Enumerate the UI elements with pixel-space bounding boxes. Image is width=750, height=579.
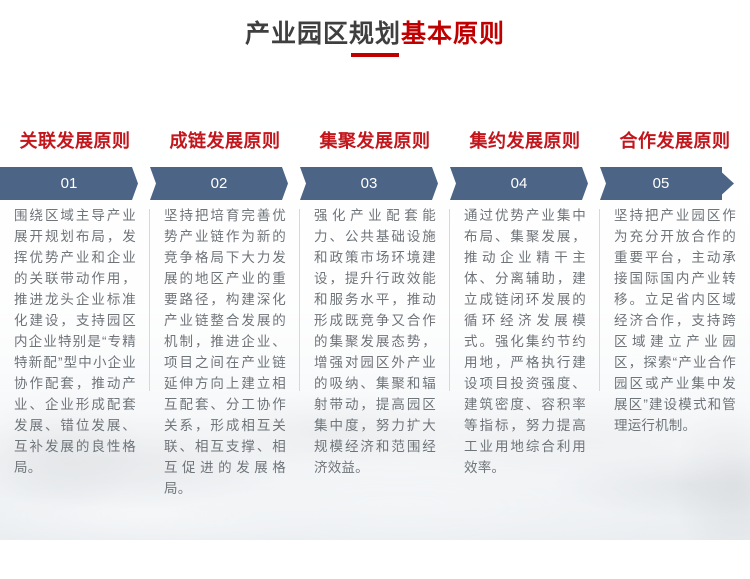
page-title-primary: 产业园区规划	[245, 20, 401, 48]
step-segment-1[interactable]: 01	[0, 167, 156, 200]
step-number-4: 04	[511, 175, 528, 192]
principle-columns: 围绕区域主导产业展开规划布局，发挥优势产业和企业的关联带动作用，推进龙头企业标准…	[0, 205, 750, 505]
page-title: 产业园区规划基本原则	[0, 14, 750, 50]
content-panel: 关联发展原则 成链发展原则 集聚发展原则 集约发展原则 合作发展原则 01 02…	[0, 105, 750, 540]
principle-header-2: 成链发展原则	[150, 127, 300, 155]
step-number-3: 03	[361, 175, 378, 192]
principle-header-1: 关联发展原则	[0, 127, 150, 155]
principle-column-3: 强化产业配套能力、公共基础设施和政策市场环境建设，提升行政效能和服务水平，推动形…	[300, 205, 450, 505]
page-title-accent: 基本原则	[401, 20, 505, 48]
step-segment-4[interactable]: 04	[450, 167, 606, 200]
principle-column-5: 坚持把产业园区作为充分开放合作的重要平台，主动承接国际国内产业转移。立足省内区域…	[600, 205, 750, 505]
step-segment-2[interactable]: 02	[150, 167, 306, 200]
step-number-5: 05	[653, 175, 670, 192]
principle-body-3: 强化产业配套能力、公共基础设施和政策市场环境建设，提升行政效能和服务水平，推动形…	[314, 205, 436, 478]
step-arrow-band: 01 02 03 04 05	[0, 167, 750, 200]
principle-header-4: 集约发展原则	[450, 127, 600, 155]
principle-body-2: 坚持把培育完善优势产业链作为新的竞争格局下大力发展的地区产业的重要路径，构建深化…	[164, 205, 286, 499]
principle-header-5: 合作发展原则	[600, 127, 750, 155]
step-number-2: 02	[211, 175, 228, 192]
principle-headers-row: 关联发展原则 成链发展原则 集聚发展原则 集约发展原则 合作发展原则	[0, 127, 750, 155]
step-number-1: 01	[61, 175, 78, 192]
step-segment-3[interactable]: 03	[300, 167, 456, 200]
principle-header-3: 集聚发展原则	[300, 127, 450, 155]
principle-column-4: 通过优势产业集中布局、集聚发展，推动企业精干主体、分离辅助，建立成链闭环发展的循…	[450, 205, 600, 505]
principle-column-2: 坚持把培育完善优势产业链作为新的竞争格局下大力发展的地区产业的重要路径，构建深化…	[150, 205, 300, 505]
principle-body-1: 围绕区域主导产业展开规划布局，发挥优势产业和企业的关联带动作用，推进龙头企业标准…	[14, 205, 136, 478]
step-segment-5[interactable]: 05	[600, 167, 734, 200]
title-block: 产业园区规划基本原则	[0, 0, 750, 105]
principle-body-5: 坚持把产业园区作为充分开放合作的重要平台，主动承接国际国内产业转移。立足省内区域…	[614, 205, 736, 436]
principle-body-4: 通过优势产业集中布局、集聚发展，推动企业精干主体、分离辅助，建立成链闭环发展的循…	[464, 205, 586, 478]
principle-column-1: 围绕区域主导产业展开规划布局，发挥优势产业和企业的关联带动作用，推进龙头企业标准…	[0, 205, 150, 505]
title-underline-rule	[351, 53, 399, 57]
